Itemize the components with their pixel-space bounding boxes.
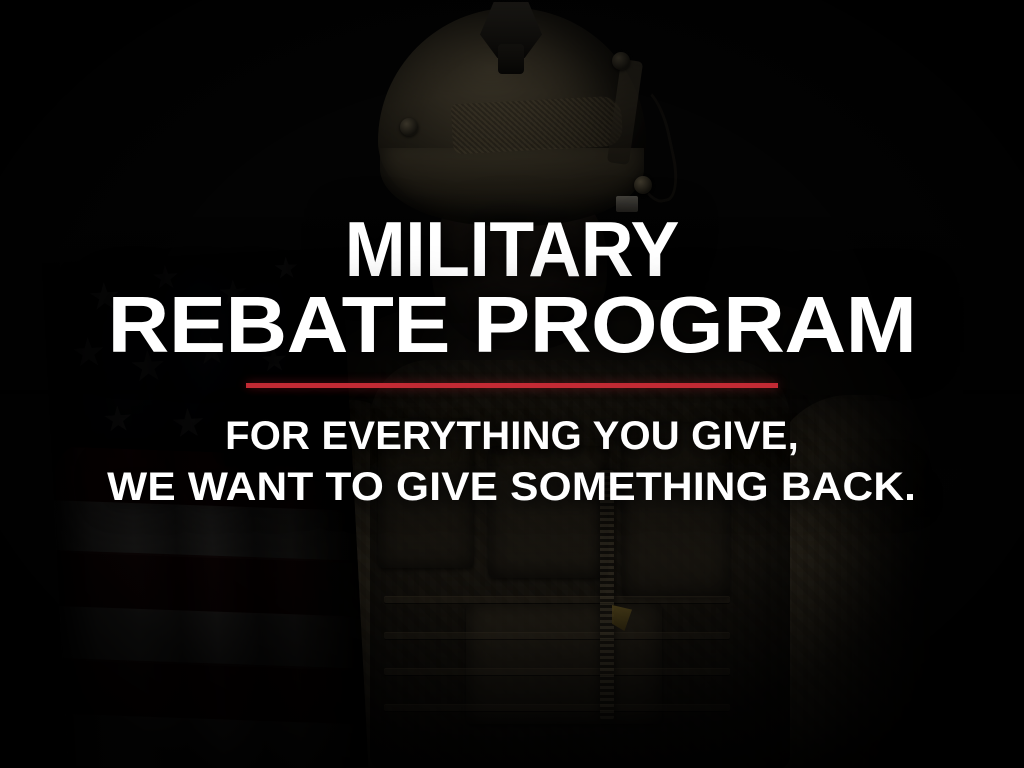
subheadline-line-2: WE WANT TO GIVE SOMETHING BACK. — [107, 465, 916, 510]
red-divider-rule — [246, 383, 778, 388]
subheadline-line-1: FOR EVERYTHING YOU GIVE, — [225, 414, 799, 459]
headline-line-1: MILITARY — [345, 213, 679, 286]
headline-line-2: REBATE PROGRAM — [108, 288, 917, 362]
military-rebate-poster: MILITARY REBATE PROGRAM FOR EVERYTHING Y… — [0, 0, 1024, 768]
poster-content: MILITARY REBATE PROGRAM FOR EVERYTHING Y… — [0, 0, 1024, 768]
